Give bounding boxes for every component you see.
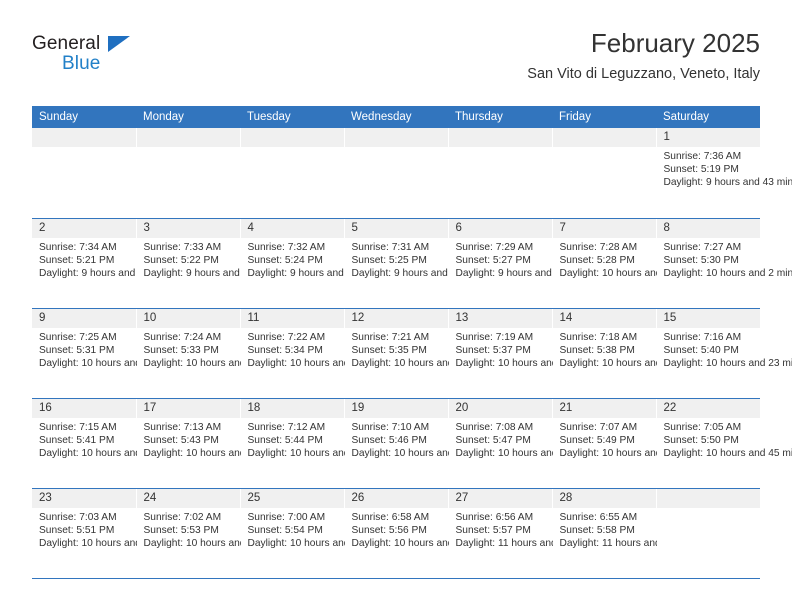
sunrise-text: Sunrise: 7:32 AM	[248, 241, 338, 254]
calendar-week-row: 9Sunrise: 7:25 AMSunset: 5:31 PMDaylight…	[32, 308, 760, 398]
sunrise-text: Sunrise: 7:16 AM	[664, 331, 755, 344]
day-number: 22	[657, 399, 761, 418]
sunrise-text: Sunrise: 6:56 AM	[456, 511, 546, 524]
day-details: Sunrise: 7:28 AMSunset: 5:28 PMDaylight:…	[553, 238, 656, 281]
sunrise-text: Sunrise: 7:22 AM	[248, 331, 338, 344]
day-number: 4	[241, 219, 344, 238]
calendar-day-cell[interactable]: 9Sunrise: 7:25 AMSunset: 5:31 PMDaylight…	[32, 308, 136, 398]
calendar-day-cell[interactable]: 24Sunrise: 7:02 AMSunset: 5:53 PMDayligh…	[136, 488, 240, 578]
daylight-text: Daylight: 10 hours and 8 minutes.	[144, 357, 234, 370]
page-title: February 2025	[527, 26, 760, 60]
sunset-text: Sunset: 5:50 PM	[664, 434, 755, 447]
logo-triangle-icon	[108, 36, 130, 52]
sunrise-text: Sunrise: 7:10 AM	[352, 421, 442, 434]
calendar-day-cell[interactable]: 28Sunrise: 6:55 AMSunset: 5:58 PMDayligh…	[552, 488, 656, 578]
calendar-day-cell[interactable]: 18Sunrise: 7:12 AMSunset: 5:44 PMDayligh…	[240, 398, 344, 488]
day-number	[32, 128, 136, 147]
weekday-header-monday: Monday	[136, 106, 240, 128]
sunrise-text: Sunrise: 7:25 AM	[39, 331, 130, 344]
calendar-day-cell[interactable]: 21Sunrise: 7:07 AMSunset: 5:49 PMDayligh…	[552, 398, 656, 488]
sunset-text: Sunset: 5:22 PM	[144, 254, 234, 267]
day-number	[345, 128, 448, 147]
sunrise-text: Sunrise: 7:19 AM	[456, 331, 546, 344]
day-details: Sunrise: 7:07 AMSunset: 5:49 PMDaylight:…	[553, 418, 656, 461]
day-number: 24	[137, 489, 240, 508]
day-details: Sunrise: 6:58 AMSunset: 5:56 PMDaylight:…	[345, 508, 448, 551]
day-details: Sunrise: 6:56 AMSunset: 5:57 PMDaylight:…	[449, 508, 552, 551]
day-details: Sunrise: 7:24 AMSunset: 5:33 PMDaylight:…	[137, 328, 240, 371]
weekday-header-sunday: Sunday	[32, 106, 136, 128]
day-details: Sunrise: 7:32 AMSunset: 5:24 PMDaylight:…	[241, 238, 344, 281]
sunrise-text: Sunrise: 6:58 AM	[352, 511, 442, 524]
sunset-text: Sunset: 5:47 PM	[456, 434, 546, 447]
day-number: 7	[553, 219, 656, 238]
day-details: Sunrise: 7:03 AMSunset: 5:51 PMDaylight:…	[32, 508, 136, 551]
daylight-text: Daylight: 9 hours and 57 minutes.	[456, 267, 546, 280]
daylight-text: Daylight: 10 hours and 35 minutes.	[352, 447, 442, 460]
sunset-text: Sunset: 5:19 PM	[664, 163, 755, 176]
day-number: 16	[32, 399, 136, 418]
sunset-text: Sunset: 5:43 PM	[144, 434, 234, 447]
day-details: Sunrise: 7:13 AMSunset: 5:43 PMDaylight:…	[137, 418, 240, 461]
daylight-text: Daylight: 10 hours and 45 minutes.	[664, 447, 755, 460]
sunrise-text: Sunrise: 7:02 AM	[144, 511, 234, 524]
sunrise-text: Sunrise: 6:55 AM	[560, 511, 650, 524]
sunrise-text: Sunrise: 7:18 AM	[560, 331, 650, 344]
day-number	[241, 128, 344, 147]
daylight-text: Daylight: 10 hours and 20 minutes.	[560, 357, 650, 370]
daylight-text: Daylight: 10 hours and 17 minutes.	[456, 357, 546, 370]
day-number: 9	[32, 309, 136, 328]
calendar-day-cell[interactable]: 19Sunrise: 7:10 AMSunset: 5:46 PMDayligh…	[344, 398, 448, 488]
sunset-text: Sunset: 5:33 PM	[144, 344, 234, 357]
sunrise-text: Sunrise: 7:24 AM	[144, 331, 234, 344]
sunrise-text: Sunrise: 7:36 AM	[664, 150, 755, 163]
calendar-cell-empty	[448, 128, 552, 218]
day-details: Sunrise: 7:18 AMSunset: 5:38 PMDaylight:…	[553, 328, 656, 371]
day-number: 25	[241, 489, 344, 508]
calendar-day-cell[interactable]: 6Sunrise: 7:29 AMSunset: 5:27 PMDaylight…	[448, 218, 552, 308]
calendar-day-cell[interactable]: 11Sunrise: 7:22 AMSunset: 5:34 PMDayligh…	[240, 308, 344, 398]
sunrise-text: Sunrise: 7:27 AM	[664, 241, 755, 254]
day-number: 5	[345, 219, 448, 238]
day-number: 18	[241, 399, 344, 418]
sunrise-text: Sunrise: 7:05 AM	[664, 421, 755, 434]
sunset-text: Sunset: 5:49 PM	[560, 434, 650, 447]
weekday-header-thursday: Thursday	[448, 106, 552, 128]
day-details: Sunrise: 7:15 AMSunset: 5:41 PMDaylight:…	[32, 418, 136, 461]
sunset-text: Sunset: 5:51 PM	[39, 524, 130, 537]
daylight-text: Daylight: 10 hours and 0 minutes.	[560, 267, 650, 280]
calendar-day-cell[interactable]: 15Sunrise: 7:16 AMSunset: 5:40 PMDayligh…	[656, 308, 760, 398]
sunset-text: Sunset: 5:53 PM	[144, 524, 234, 537]
sunset-text: Sunset: 5:35 PM	[352, 344, 442, 357]
calendar-week-row: 1Sunrise: 7:36 AMSunset: 5:19 PMDaylight…	[32, 128, 760, 218]
weekday-header-tuesday: Tuesday	[240, 106, 344, 128]
sunset-text: Sunset: 5:37 PM	[456, 344, 546, 357]
sunset-text: Sunset: 5:27 PM	[456, 254, 546, 267]
calendar-body: 1Sunrise: 7:36 AMSunset: 5:19 PMDaylight…	[32, 128, 760, 578]
sunrise-text: Sunrise: 7:31 AM	[352, 241, 442, 254]
day-number: 10	[137, 309, 240, 328]
day-details: Sunrise: 7:25 AMSunset: 5:31 PMDaylight:…	[32, 328, 136, 371]
daylight-text: Daylight: 10 hours and 41 minutes.	[560, 447, 650, 460]
sunset-text: Sunset: 5:38 PM	[560, 344, 650, 357]
sunset-text: Sunset: 5:40 PM	[664, 344, 755, 357]
day-number: 19	[345, 399, 448, 418]
calendar-day-cell[interactable]: 16Sunrise: 7:15 AMSunset: 5:41 PMDayligh…	[32, 398, 136, 488]
daylight-text: Daylight: 11 hours and 0 minutes.	[456, 537, 546, 550]
sunset-text: Sunset: 5:46 PM	[352, 434, 442, 447]
calendar-day-cell[interactable]: 1Sunrise: 7:36 AMSunset: 5:19 PMDaylight…	[656, 128, 760, 218]
day-details: Sunrise: 7:05 AMSunset: 5:50 PMDaylight:…	[657, 418, 761, 461]
calendar-day-cell[interactable]: 23Sunrise: 7:03 AMSunset: 5:51 PMDayligh…	[32, 488, 136, 578]
day-details: Sunrise: 7:29 AMSunset: 5:27 PMDaylight:…	[449, 238, 552, 281]
sunset-text: Sunset: 5:56 PM	[352, 524, 442, 537]
day-number: 26	[345, 489, 448, 508]
weekday-header-saturday: Saturday	[656, 106, 760, 128]
calendar-day-cell[interactable]: 17Sunrise: 7:13 AMSunset: 5:43 PMDayligh…	[136, 398, 240, 488]
day-number: 6	[449, 219, 552, 238]
calendar-day-cell[interactable]: 2Sunrise: 7:34 AMSunset: 5:21 PMDaylight…	[32, 218, 136, 308]
day-number	[137, 128, 240, 147]
sunrise-text: Sunrise: 7:21 AM	[352, 331, 442, 344]
day-details: Sunrise: 7:08 AMSunset: 5:47 PMDaylight:…	[449, 418, 552, 461]
sunrise-text: Sunrise: 7:07 AM	[560, 421, 650, 434]
daylight-text: Daylight: 10 hours and 2 minutes.	[664, 267, 755, 280]
sunset-text: Sunset: 5:24 PM	[248, 254, 338, 267]
daylight-text: Daylight: 10 hours and 32 minutes.	[248, 447, 338, 460]
sunset-text: Sunset: 5:57 PM	[456, 524, 546, 537]
sunset-text: Sunset: 5:31 PM	[39, 344, 130, 357]
sunrise-text: Sunrise: 7:34 AM	[39, 241, 130, 254]
calendar-cell-empty	[552, 128, 656, 218]
daylight-text: Daylight: 10 hours and 23 minutes.	[664, 357, 755, 370]
daylight-text: Daylight: 10 hours and 29 minutes.	[144, 447, 234, 460]
weekday-header-wednesday: Wednesday	[344, 106, 448, 128]
day-number	[553, 128, 656, 147]
calendar-day-cell[interactable]: 7Sunrise: 7:28 AMSunset: 5:28 PMDaylight…	[552, 218, 656, 308]
sunrise-text: Sunrise: 7:28 AM	[560, 241, 650, 254]
calendar-day-cell[interactable]: 25Sunrise: 7:00 AMSunset: 5:54 PMDayligh…	[240, 488, 344, 578]
weekday-header-row: SundayMondayTuesdayWednesdayThursdayFrid…	[32, 106, 760, 128]
calendar-day-cell[interactable]: 27Sunrise: 6:56 AMSunset: 5:57 PMDayligh…	[448, 488, 552, 578]
calendar-week-row: 2Sunrise: 7:34 AMSunset: 5:21 PMDaylight…	[32, 218, 760, 308]
calendar-day-cell[interactable]: 3Sunrise: 7:33 AMSunset: 5:22 PMDaylight…	[136, 218, 240, 308]
calendar-week-row: 23Sunrise: 7:03 AMSunset: 5:51 PMDayligh…	[32, 488, 760, 578]
calendar-day-cell[interactable]: 22Sunrise: 7:05 AMSunset: 5:50 PMDayligh…	[656, 398, 760, 488]
calendar-day-cell[interactable]: 20Sunrise: 7:08 AMSunset: 5:47 PMDayligh…	[448, 398, 552, 488]
day-number: 13	[449, 309, 552, 328]
daylight-text: Daylight: 10 hours and 54 minutes.	[248, 537, 338, 550]
logo-text-blue: Blue	[62, 54, 100, 73]
day-details: Sunrise: 7:21 AMSunset: 5:35 PMDaylight:…	[345, 328, 448, 371]
day-number: 23	[32, 489, 136, 508]
calendar-day-cell[interactable]: 12Sunrise: 7:21 AMSunset: 5:35 PMDayligh…	[344, 308, 448, 398]
sunset-text: Sunset: 5:44 PM	[248, 434, 338, 447]
daylight-text: Daylight: 10 hours and 51 minutes.	[144, 537, 234, 550]
day-details: Sunrise: 7:16 AMSunset: 5:40 PMDaylight:…	[657, 328, 761, 371]
day-details: Sunrise: 7:27 AMSunset: 5:30 PMDaylight:…	[657, 238, 761, 281]
day-number: 11	[241, 309, 344, 328]
calendar-week-row: 16Sunrise: 7:15 AMSunset: 5:41 PMDayligh…	[32, 398, 760, 488]
sunset-text: Sunset: 5:21 PM	[39, 254, 130, 267]
day-details: Sunrise: 7:10 AMSunset: 5:46 PMDaylight:…	[345, 418, 448, 461]
daylight-text: Daylight: 9 hours and 43 minutes.	[664, 176, 755, 189]
daylight-text: Daylight: 10 hours and 11 minutes.	[248, 357, 338, 370]
calendar-day-cell[interactable]: 4Sunrise: 7:32 AMSunset: 5:24 PMDaylight…	[240, 218, 344, 308]
daylight-text: Daylight: 9 hours and 49 minutes.	[144, 267, 234, 280]
daylight-text: Daylight: 10 hours and 26 minutes.	[39, 447, 130, 460]
daylight-text: Daylight: 10 hours and 5 minutes.	[39, 357, 130, 370]
day-number: 21	[553, 399, 656, 418]
day-details: Sunrise: 7:31 AMSunset: 5:25 PMDaylight:…	[345, 238, 448, 281]
calendar-day-cell[interactable]: 13Sunrise: 7:19 AMSunset: 5:37 PMDayligh…	[448, 308, 552, 398]
day-number: 3	[137, 219, 240, 238]
daylight-text: Daylight: 10 hours and 14 minutes.	[352, 357, 442, 370]
calendar-header-row: SundayMondayTuesdayWednesdayThursdayFrid…	[32, 106, 760, 128]
day-number: 12	[345, 309, 448, 328]
sunset-text: Sunset: 5:58 PM	[560, 524, 650, 537]
calendar-cell-empty	[136, 128, 240, 218]
page-subtitle: San Vito di Leguzzano, Veneto, Italy	[527, 65, 760, 84]
daylight-text: Daylight: 11 hours and 3 minutes.	[560, 537, 650, 550]
calendar-day-cell[interactable]: 10Sunrise: 7:24 AMSunset: 5:33 PMDayligh…	[136, 308, 240, 398]
sunrise-text: Sunrise: 7:00 AM	[248, 511, 338, 524]
sunset-text: Sunset: 5:41 PM	[39, 434, 130, 447]
sunrise-text: Sunrise: 7:12 AM	[248, 421, 338, 434]
day-number: 2	[32, 219, 136, 238]
day-number: 20	[449, 399, 552, 418]
day-details: Sunrise: 6:55 AMSunset: 5:58 PMDaylight:…	[553, 508, 656, 551]
day-details: Sunrise: 7:34 AMSunset: 5:21 PMDaylight:…	[32, 238, 136, 281]
daylight-text: Daylight: 10 hours and 38 minutes.	[456, 447, 546, 460]
sunrise-text: Sunrise: 7:33 AM	[144, 241, 234, 254]
day-details: Sunrise: 7:12 AMSunset: 5:44 PMDaylight:…	[241, 418, 344, 461]
sunrise-text: Sunrise: 7:08 AM	[456, 421, 546, 434]
sunrise-text: Sunrise: 7:13 AM	[144, 421, 234, 434]
calendar-day-cell[interactable]: 14Sunrise: 7:18 AMSunset: 5:38 PMDayligh…	[552, 308, 656, 398]
day-number: 1	[657, 128, 761, 147]
calendar-cell-empty	[32, 128, 136, 218]
sunset-text: Sunset: 5:34 PM	[248, 344, 338, 357]
daylight-text: Daylight: 9 hours and 51 minutes.	[248, 267, 338, 280]
daylight-text: Daylight: 9 hours and 46 minutes.	[39, 267, 130, 280]
sunset-text: Sunset: 5:54 PM	[248, 524, 338, 537]
day-number: 8	[657, 219, 761, 238]
day-details: Sunrise: 7:36 AMSunset: 5:19 PMDaylight:…	[657, 147, 761, 190]
day-details: Sunrise: 7:00 AMSunset: 5:54 PMDaylight:…	[241, 508, 344, 551]
day-number	[657, 489, 761, 508]
title-block: February 2025 San Vito di Leguzzano, Ven…	[527, 26, 760, 84]
day-number: 14	[553, 309, 656, 328]
day-number	[449, 128, 552, 147]
calendar-cell-empty	[656, 488, 760, 578]
calendar-page: General Blue February 2025 San Vito di L…	[0, 0, 792, 612]
sunrise-text: Sunrise: 7:03 AM	[39, 511, 130, 524]
day-details: Sunrise: 7:02 AMSunset: 5:53 PMDaylight:…	[137, 508, 240, 551]
day-number: 15	[657, 309, 761, 328]
sunset-text: Sunset: 5:25 PM	[352, 254, 442, 267]
day-details: Sunrise: 7:22 AMSunset: 5:34 PMDaylight:…	[241, 328, 344, 371]
logo-text-general: General	[32, 34, 100, 53]
calendar-day-cell[interactable]: 5Sunrise: 7:31 AMSunset: 5:25 PMDaylight…	[344, 218, 448, 308]
weekday-header-friday: Friday	[552, 106, 656, 128]
day-details: Sunrise: 7:33 AMSunset: 5:22 PMDaylight:…	[137, 238, 240, 281]
daylight-text: Daylight: 10 hours and 48 minutes.	[39, 537, 130, 550]
day-details: Sunrise: 7:19 AMSunset: 5:37 PMDaylight:…	[449, 328, 552, 371]
calendar-day-cell[interactable]: 26Sunrise: 6:58 AMSunset: 5:56 PMDayligh…	[344, 488, 448, 578]
calendar-cell-empty	[344, 128, 448, 218]
day-number: 17	[137, 399, 240, 418]
daylight-text: Daylight: 9 hours and 54 minutes.	[352, 267, 442, 280]
generalblue-logo[interactable]: General Blue	[32, 34, 142, 82]
daylight-text: Daylight: 10 hours and 57 minutes.	[352, 537, 442, 550]
sunrise-text: Sunrise: 7:29 AM	[456, 241, 546, 254]
day-number: 27	[449, 489, 552, 508]
calendar-cell-empty	[240, 128, 344, 218]
sunrise-text: Sunrise: 7:15 AM	[39, 421, 130, 434]
day-number: 28	[553, 489, 656, 508]
page-header: General Blue February 2025 San Vito di L…	[32, 26, 760, 98]
calendar-day-cell[interactable]: 8Sunrise: 7:27 AMSunset: 5:30 PMDaylight…	[656, 218, 760, 308]
sunset-text: Sunset: 5:30 PM	[664, 254, 755, 267]
sunset-text: Sunset: 5:28 PM	[560, 254, 650, 267]
calendar-grid: SundayMondayTuesdayWednesdayThursdayFrid…	[32, 106, 760, 579]
